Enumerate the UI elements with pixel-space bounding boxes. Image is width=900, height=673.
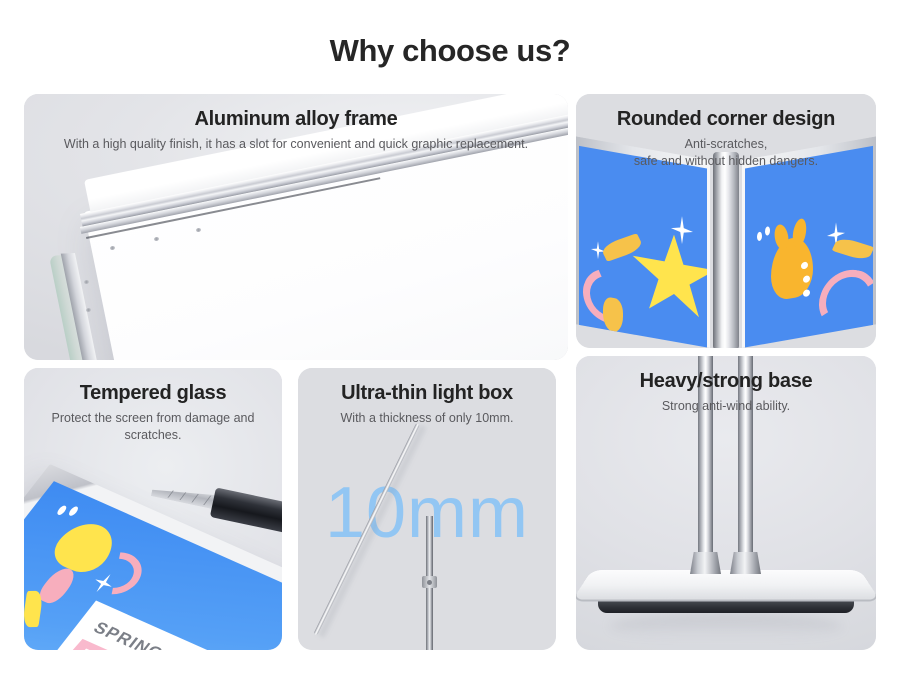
leaf-shape (24, 591, 44, 628)
feature-card-ultra-thin-light-box[interactable]: 10mm Ultra-thin light box With a thickne… (298, 368, 556, 650)
panel-poster-left (579, 146, 707, 348)
feature-card-rounded-corner-design[interactable]: Rounded corner design Anti-scratches, sa… (576, 94, 876, 348)
base-reflection-shape (610, 613, 842, 639)
knife-body-shape (210, 487, 282, 548)
feature-card-aluminum-alloy-frame[interactable]: Aluminum alloy frame With a high quality… (24, 94, 568, 360)
card-subtitle-line-2: safe and without hidden dangers. (634, 154, 818, 168)
screw-icon (86, 308, 92, 313)
card-title: Heavy/strong base (576, 369, 876, 394)
card-subtitle: With a thickness of only 10mm. (298, 410, 556, 427)
card-header: Ultra-thin light box With a thickness of… (298, 368, 556, 427)
base-plate-shape (576, 570, 876, 600)
pole-foot-left (690, 552, 721, 574)
page-title: Why choose us? (0, 33, 900, 69)
card-title: Ultra-thin light box (298, 381, 556, 406)
card-header: Aluminum alloy frame With a high quality… (24, 94, 568, 153)
card-subtitle: Protect the screen from damage and scrat… (24, 410, 282, 445)
feature-card-heavy-strong-base[interactable]: Heavy/strong base Strong anti-wind abili… (576, 356, 876, 650)
dot-shape (765, 226, 770, 236)
card-title: Rounded corner design (576, 107, 876, 132)
feature-card-tempered-glass[interactable]: SPRING SALE 50 % UP TO OFF (24, 368, 282, 650)
card-header: Heavy/strong base Strong anti-wind abili… (576, 356, 876, 415)
starburst-shape (631, 227, 707, 328)
rounded-corner-column-shape (713, 152, 739, 348)
dot-shape (757, 231, 762, 241)
card-subtitle: Strong anti-wind ability. (576, 398, 876, 415)
card-subtitle-line-1: Anti-scratches, (685, 137, 768, 151)
swirl-shape (811, 265, 873, 333)
dot-shape (67, 505, 79, 516)
dot-shape (803, 289, 810, 297)
panel-poster-right (745, 146, 873, 348)
card-title: Tempered glass (24, 381, 282, 406)
card-subtitle: With a high quality finish, it has a slo… (24, 136, 568, 153)
card-header: Tempered glass Protect the screen from d… (24, 368, 282, 445)
petal-shape (603, 296, 623, 334)
leaf-shape (832, 236, 873, 262)
card-title: Aluminum alloy frame (24, 107, 568, 132)
pole-foot-right (730, 552, 761, 574)
corner-panels-group (576, 160, 876, 348)
card-header: Rounded corner design Anti-scratches, sa… (576, 94, 876, 171)
spring-sale-poster: SPRING SALE 50 % UP TO OFF (24, 601, 282, 650)
dot-shape (56, 505, 68, 516)
clamp-bolt-icon (427, 580, 432, 585)
base-plate-side-shape (598, 600, 854, 613)
screw-icon (84, 280, 90, 285)
feature-showcase-page: Why choose us? Aluminum alloy frame With… (0, 0, 900, 673)
card-subtitle: Anti-scratches, safe and without hidden … (576, 136, 876, 171)
